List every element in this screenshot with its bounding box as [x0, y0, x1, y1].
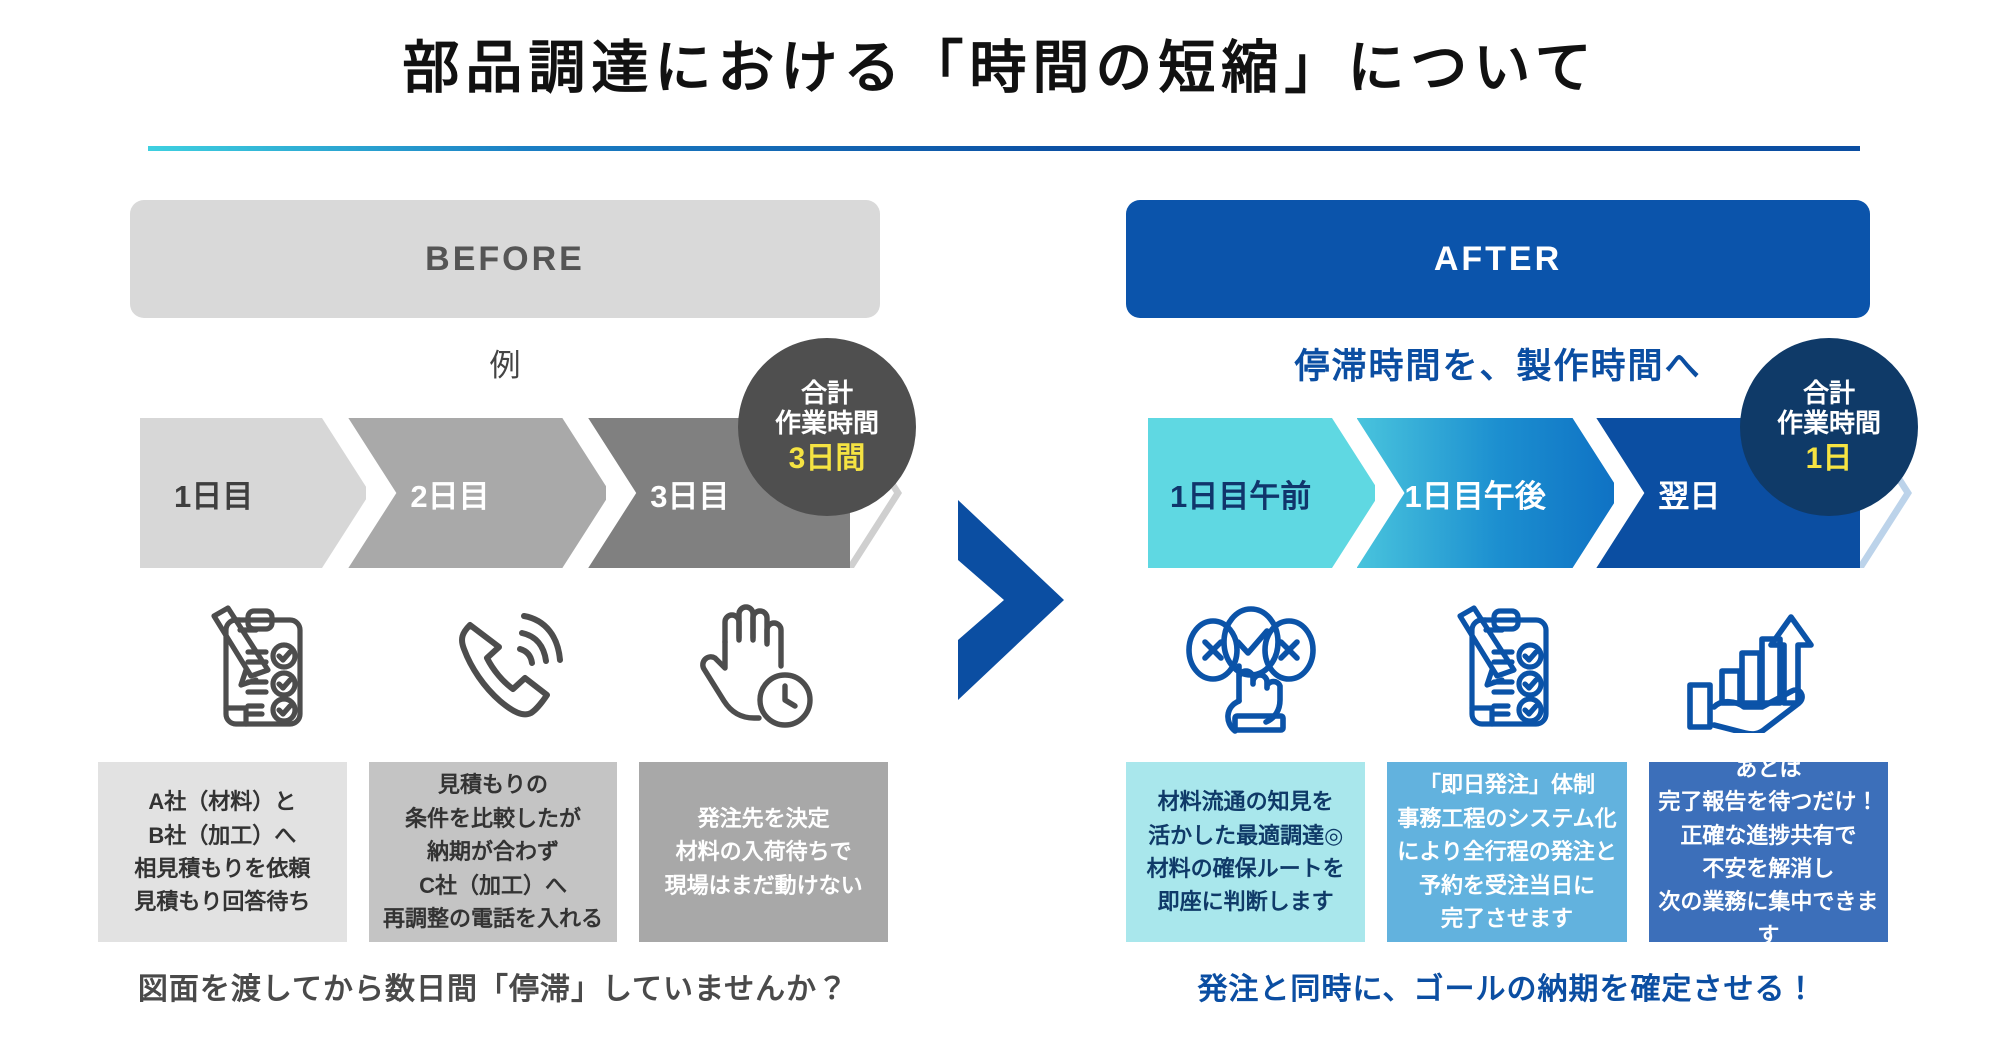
- after-step-1-label: 1日目午前: [1170, 471, 1311, 516]
- before-step-3-label: 3日目: [650, 471, 729, 516]
- slide-root: 部品調達における「時間の短縮」について BEFORE 例 1日目 2日目 3日目…: [0, 0, 2000, 1060]
- before-icon-row: [130, 598, 880, 738]
- after-caption-2: 「即日発注」体制 事務工程のシステム化 により全行程の発注と 予約を受注当日に …: [1387, 762, 1626, 942]
- before-step-2: 2日目: [348, 418, 606, 568]
- after-icon-row: [1126, 598, 1876, 738]
- after-footer-text: 発注と同時に、ゴールの納期を確定させる！: [1126, 964, 1888, 1008]
- clipboard-checklist-icon: [1376, 598, 1626, 738]
- before-badge-line2: 作業時間: [775, 408, 879, 439]
- before-badge-line1: 合計: [801, 378, 853, 409]
- before-caption-3: 発注先を決定 材料の入荷待ちで 現場はまだ動けない: [639, 762, 888, 942]
- after-step-1: 1日目午前: [1148, 418, 1375, 568]
- after-caption-row: 材料流通の知見を 活かした最適調達◎ 材料の確保ルートを 即座に判断します 「即…: [1126, 762, 1888, 942]
- clipboard-checklist-icon: [130, 598, 380, 738]
- after-step-3-label: 翌日: [1658, 471, 1720, 516]
- after-header: AFTER: [1126, 200, 1870, 318]
- phone-ringing-icon: [380, 598, 630, 738]
- after-badge-total: 1日: [1806, 441, 1853, 476]
- before-header: BEFORE: [130, 200, 880, 318]
- page-title: 部品調達における「時間の短縮」について: [0, 22, 2000, 104]
- before-step-2-label: 2日目: [410, 471, 489, 516]
- before-caption-row: A社（材料）と B社（加工）へ 相見積もりを依頼 見積もり回答待ち 見積もりの …: [98, 762, 888, 942]
- after-step-2: 1日目午後: [1357, 418, 1615, 568]
- after-caption-1: 材料流通の知見を 活かした最適調達◎ 材料の確保ルートを 即座に判断します: [1126, 762, 1365, 942]
- before-caption-2: 見積もりの 条件を比較したが 納期が合わず C社（加工）へ 再調整の電話を入れる: [369, 762, 618, 942]
- hand-growth-chart-icon: [1626, 598, 1876, 738]
- after-badge-line1: 合計: [1803, 378, 1855, 409]
- after-step-2-label: 1日目午後: [1405, 471, 1546, 516]
- before-step-1-label: 1日目: [174, 471, 253, 516]
- chevron-right-arrow-icon: [952, 500, 1070, 710]
- after-badge-line2: 作業時間: [1777, 408, 1881, 439]
- before-total-badge: 合計 作業時間 3日間: [738, 338, 916, 516]
- hand-pointer-check-icon: [1126, 598, 1376, 738]
- before-step-1: 1日目: [140, 418, 366, 568]
- after-total-badge: 合計 作業時間 1日: [1740, 338, 1918, 516]
- after-caption-3: あとは 完了報告を待つだけ！ 正確な進捗共有で 不安を解消し 次の業務に集中でき…: [1649, 762, 1888, 942]
- title-divider: [148, 146, 1860, 151]
- hand-stop-clock-icon: [630, 598, 880, 738]
- before-footer-text: 図面を渡してから数日間「停滞」していませんか？: [98, 964, 888, 1008]
- before-badge-total: 3日間: [789, 441, 866, 476]
- before-caption-1: A社（材料）と B社（加工）へ 相見積もりを依頼 見積もり回答待ち: [98, 762, 347, 942]
